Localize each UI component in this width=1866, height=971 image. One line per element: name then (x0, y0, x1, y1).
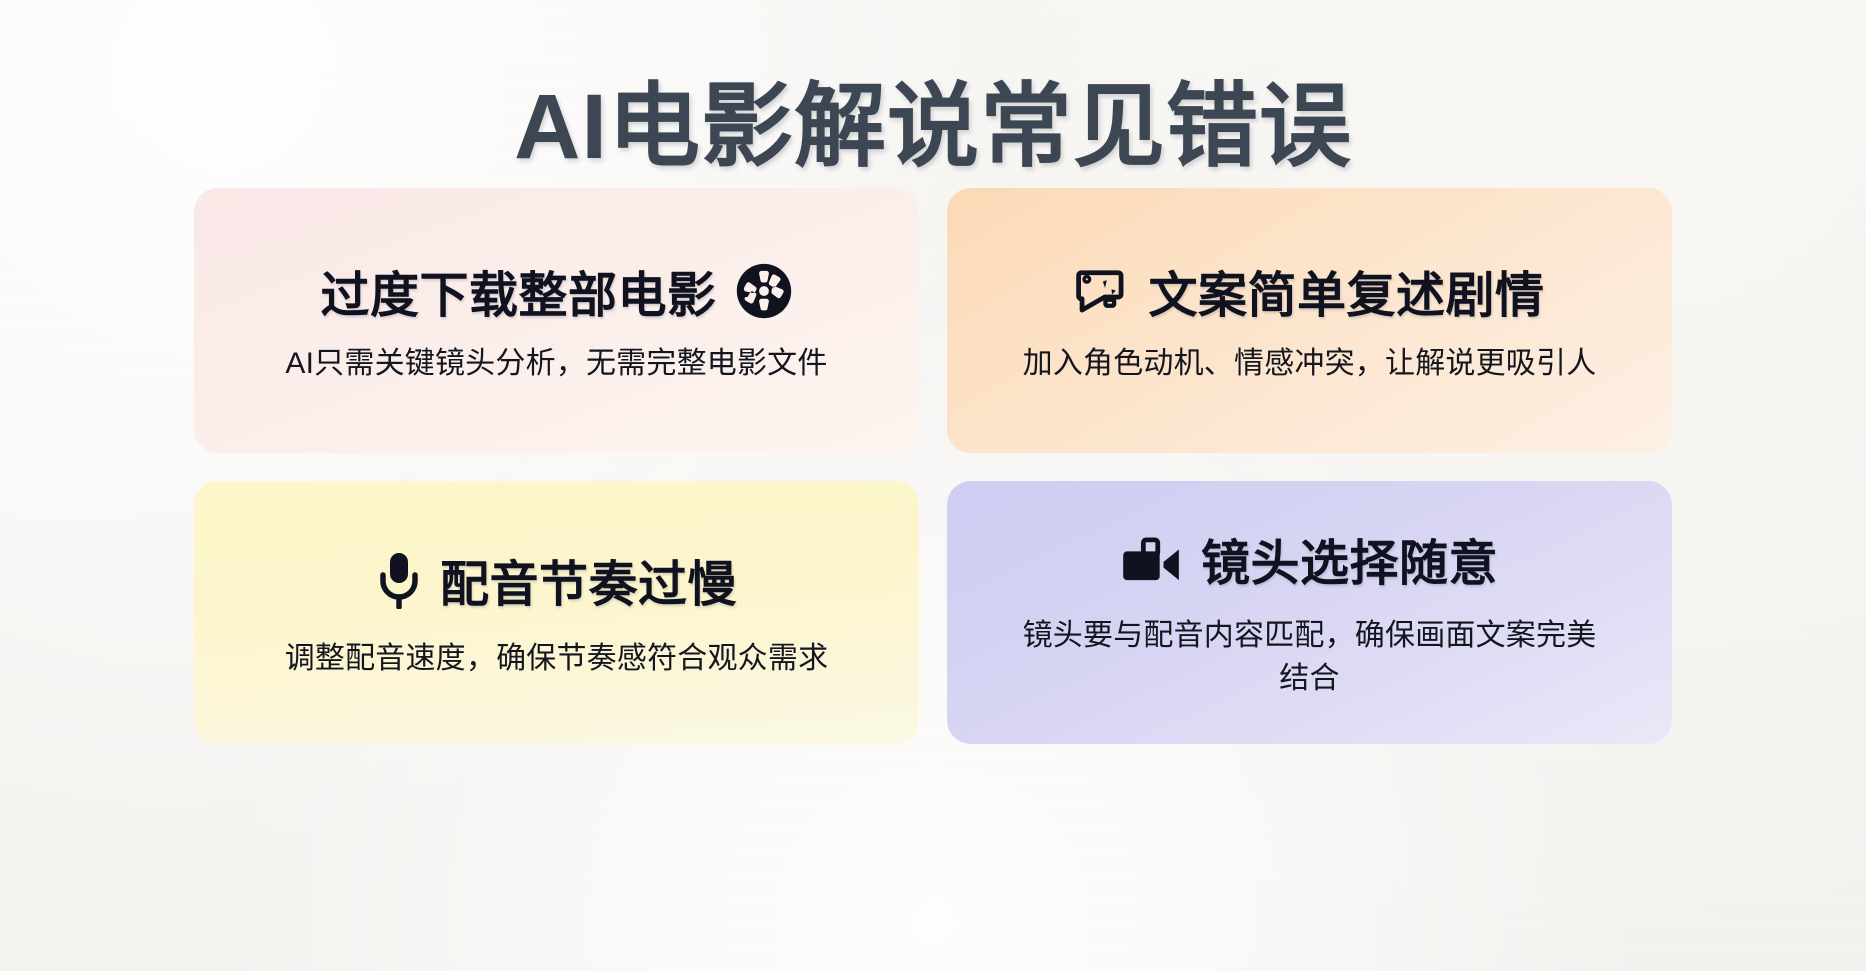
card-description: 加入角色动机、情感冲突，让解说更吸引人 (1023, 343, 1597, 386)
card-random-shots[interactable]: 镜头选择随意 镜头要与配音内容匹配，确保画面文案完美结合 (947, 481, 1672, 744)
slide-root: AI电影解说常见错误 过度下载整部电影 AI只需关键镜头分析，无需完整电影文件 (0, 0, 1866, 971)
card-description: AI只需关键镜头分析，无需完整电影文件 (285, 343, 827, 386)
microphone-icon (376, 551, 422, 609)
script-bubble-icon (1074, 265, 1130, 317)
page-title: AI电影解说常见错误 (0, 76, 1866, 179)
card-plot-retell[interactable]: 文案简单复述剧情 加入角色动机、情感冲突，让解说更吸引人 (947, 188, 1672, 453)
card-title: 配音节奏过慢 (440, 545, 737, 616)
card-header: 镜头选择随意 (973, 524, 1646, 595)
card-overdownload[interactable]: 过度下载整部电影 AI只需关键镜头分析，无需完整电影文件 (194, 188, 919, 453)
card-slow-voiceover[interactable]: 配音节奏过慢 调整配音速度，确保节奏感符合观众需求 (194, 481, 919, 744)
card-header: 文案简单复述剧情 (973, 256, 1646, 327)
card-title: 过度下载整部电影 (320, 256, 716, 327)
card-title: 文案简单复述剧情 (1148, 256, 1544, 327)
card-header: 过度下载整部电影 (220, 256, 893, 327)
card-title: 镜头选择随意 (1201, 524, 1498, 595)
card-header: 配音节奏过慢 (220, 545, 893, 616)
card-description: 镜头要与配音内容匹配，确保画面文案完美结合 (1020, 615, 1600, 700)
film-reel-icon (735, 262, 793, 320)
card-description: 调整配音速度，确保节奏感符合观众需求 (285, 638, 829, 681)
video-camera-icon (1121, 536, 1183, 584)
tips-card-grid: 过度下载整部电影 AI只需关键镜头分析，无需完整电影文件 (38, 188, 1828, 744)
